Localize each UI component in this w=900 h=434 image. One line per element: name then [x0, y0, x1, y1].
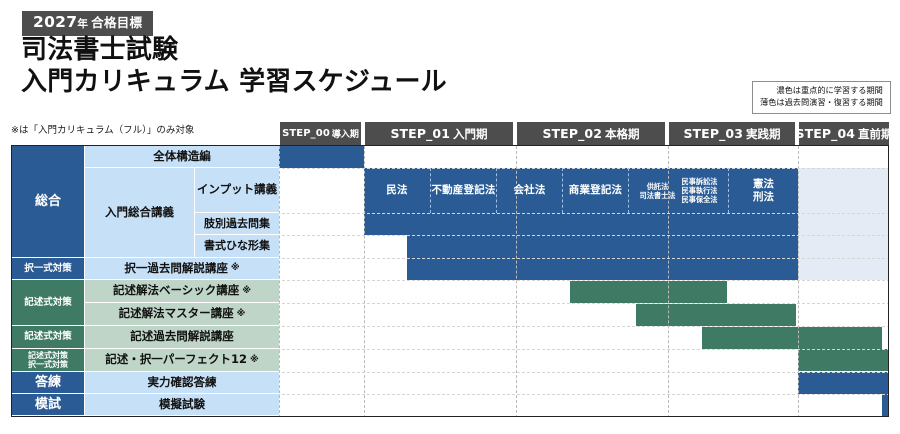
course-kijutsu-master: 記述解法マスター講座※ [84, 303, 279, 326]
bar-shoshiki-light [798, 235, 888, 258]
bar-zentai-dark [279, 146, 364, 168]
bar-kijutsu-master [636, 304, 796, 326]
step-code: STEP_03 [683, 126, 743, 141]
step-header-03: STEP_03実践期 [667, 122, 797, 145]
schedule-body: 民法 不動産登記法 会社法 商業登記法 供託法 司法書士法 民事訴訟法 [11, 145, 889, 417]
star-icon: ※ [231, 263, 240, 274]
subject-kyoutakuhou: 供託法 [640, 182, 676, 191]
schedule-table: STEP_00導入期 STEP_01入門期 STEP_02本格期 STEP_03… [11, 122, 889, 417]
step-jp: 入門期 [453, 126, 488, 142]
category-moshi: 模試 [12, 394, 84, 416]
title-line-1: 司法書士試験 [21, 35, 447, 67]
subject-kaisha: 会社法 [496, 168, 562, 213]
bar-takuitsu-kako-dark [407, 258, 798, 280]
category-sogo: 総合 [12, 146, 84, 258]
category-kijutsu-2: 記述式対策 [12, 326, 84, 349]
category-takuitsu: 択一式対策 [12, 258, 84, 280]
subject-fudousan: 不動産登記法 [430, 168, 496, 213]
step-code: STEP_04 [795, 126, 855, 141]
bar-houkaisei [882, 394, 888, 417]
course-jitsuryoku-touren: 実力確認答練 [84, 372, 279, 394]
course-nyumon-sogo: 入門総合講義 [84, 168, 194, 258]
course-takuitsu-kakomon: 択一過去問解説講座※ [84, 258, 279, 280]
step-header-00: STEP_00導入期 [278, 122, 363, 145]
year-value: 2027 [33, 13, 77, 31]
step-header-row: STEP_00導入期 STEP_01入門期 STEP_02本格期 STEP_03… [11, 122, 889, 145]
subject-minpou: 民法 [364, 168, 430, 213]
step-jp: 本格期 [605, 126, 640, 142]
title-line-2: 入門カリキュラム 学習スケジュール [21, 67, 447, 99]
course-input-kougi: インプット講義 [194, 168, 279, 213]
course-perfect12: 記述・択一パーフェクト12※ [84, 349, 279, 372]
legend-line-dark: 濃色は重点的に学習する期間 [760, 85, 883, 97]
year-goal-badge: 2027年合格目標 [22, 11, 153, 36]
schedule-infographic: 2027年合格目標 司法書士試験 入門カリキュラム 学習スケジュール ※は「入門… [0, 0, 900, 434]
step-header-01: STEP_01入門期 [363, 122, 515, 145]
subject-shougyou: 商業登記法 [562, 168, 628, 213]
subject-minjihozen: 民事保全法 [682, 195, 718, 204]
bar-takuitsu-kako-light [798, 258, 888, 280]
step-code: STEP_00 [282, 128, 330, 139]
step-header-04: STEP_04直前期 [797, 122, 889, 145]
goal-label: 合格目標 [91, 15, 142, 30]
bar-shibetsu-dark [364, 213, 798, 235]
gridline-step00-start [279, 146, 280, 417]
subject-kenpou-keihou: 憲法 刑法 [728, 168, 798, 213]
bar-perfect12 [798, 349, 888, 371]
bar-shibetsu-light [798, 213, 888, 235]
step-code: STEP_01 [390, 126, 450, 141]
category-houkaisei: 法改正対策 [12, 416, 84, 417]
subject-kyoutaku-minji: 供託法 司法書士法 民事訴訟法 民事執行法 民事保全法 [628, 168, 728, 213]
bar-kijutsu-basic [570, 281, 727, 303]
step-jp: 導入期 [332, 127, 359, 140]
page-title: 司法書士試験 入門カリキュラム 学習スケジュール [21, 35, 447, 98]
course-houkaisei: 重要法改正総ざらい講座 [84, 416, 279, 417]
subject-shihoushoshihou: 司法書士法 [640, 191, 676, 200]
bar-input-light [798, 168, 888, 213]
subject-minjishikkou: 民事執行法 [682, 186, 718, 195]
step-code: STEP_02 [542, 126, 602, 141]
star-icon: ※ [242, 286, 251, 297]
step-header-02: STEP_02本格期 [515, 122, 667, 145]
course-shibetsu-kakomon: 肢別過去問集 [194, 213, 279, 235]
step-jp: 直前期 [858, 126, 893, 142]
course-mogi-shiken: 模擬試験 [84, 394, 279, 416]
course-shoshiki-hinagata: 書式ひな形集 [194, 235, 279, 258]
course-zentai-kouzou: 全体構造編 [84, 146, 279, 168]
subject-minjisoshou: 民事訴訟法 [682, 177, 718, 186]
subject-keihou: 刑法 [753, 191, 774, 203]
bar-shoshiki-dark [407, 235, 798, 258]
year-suffix: 年 [77, 18, 88, 30]
step-jp: 実践期 [746, 126, 781, 142]
course-kijutsu-kakomon: 記述過去問解説講座 [84, 326, 279, 349]
course-kijutsu-basic: 記述解法ベーシック講座※ [84, 280, 279, 303]
gridline-step04-start [798, 146, 799, 417]
category-kijutsu-1: 記述式対策 [12, 280, 84, 326]
bar-jitsuryoku [798, 372, 888, 394]
category-kijutsu-takuitsu: 記述式対策 択一式対策 [12, 349, 84, 372]
star-icon: ※ [237, 309, 246, 320]
legend: 濃色は重点的に学習する期間 薄色は過去問演習・復習する期間 [752, 81, 891, 114]
category-touren: 答練 [12, 372, 84, 394]
star-icon: ※ [250, 355, 259, 366]
legend-line-light: 薄色は過去問演習・復習する期間 [760, 97, 883, 109]
subject-kenpou: 憲法 [753, 178, 774, 190]
bar-kijutsu-kako [702, 327, 882, 349]
